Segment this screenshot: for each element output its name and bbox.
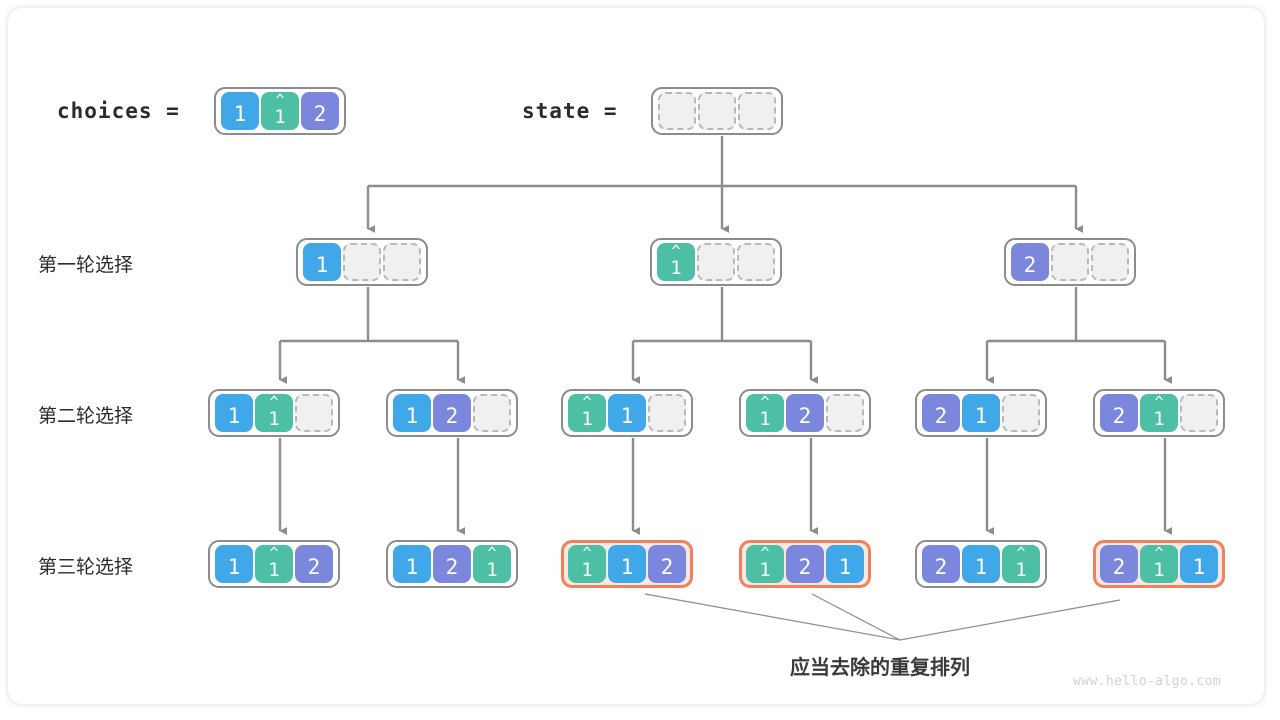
value-cell: ^1 [657,243,695,281]
empty-cell [738,92,776,130]
value-cell: 1 [215,545,253,583]
tree-node: 1 [296,238,428,286]
cell-value: 2 [1024,255,1037,276]
value-cell: 1 [215,394,253,432]
tree-node-duplicate: 2^11 [1093,540,1225,588]
choices-array: 1^12 [214,87,346,135]
empty-cell [648,394,686,432]
value-cell: 1 [962,394,1000,432]
value-cell: 1 [1180,545,1218,583]
value-cell: 1 [962,545,1000,583]
cell-value: 1 [1193,557,1206,578]
cell-value: 1 [975,406,988,427]
empty-cell [1002,394,1040,432]
tree-node: 2 [1004,238,1136,286]
cell-value: 1 [486,561,497,580]
row-label-round-1: 第一轮选择 [38,250,133,277]
cell-value: 1 [1153,410,1164,429]
cell-value: 1 [839,557,852,578]
value-cell: ^1 [1002,545,1040,583]
value-cell: 1 [608,545,646,583]
value-cell: 2 [648,545,686,583]
value-cell: 2 [1011,243,1049,281]
row-label-round-3: 第三轮选择 [38,552,133,579]
value-cell: 1 [826,545,864,583]
cell-value: 1 [581,561,592,580]
cell-value: 1 [234,104,247,125]
cell-value: 2 [314,104,327,125]
cell-value: 2 [799,557,812,578]
value-cell: ^1 [261,92,299,130]
cell-value: 2 [661,557,674,578]
value-cell: 1 [393,545,431,583]
tree-node-duplicate: ^112 [561,540,693,588]
value-cell: 1 [393,394,431,432]
figure-canvas: choices = 1^12 state = 第一轮选择 第二轮选择 第三轮选择… [0,0,1280,720]
choices-label: choices = [57,99,180,123]
cell-value: 1 [274,108,285,127]
tree-node: 2^1 [1093,389,1225,437]
cell-value: 1 [1153,561,1164,580]
value-cell: ^1 [255,394,293,432]
value-cell: 2 [1100,545,1138,583]
cell-value: 1 [759,561,770,580]
value-cell: ^1 [746,545,784,583]
empty-cell [473,394,511,432]
empty-cell [1180,394,1218,432]
empty-cell [343,243,381,281]
tree-node: 21^1 [915,540,1047,588]
cell-value: 1 [621,557,634,578]
value-cell: 2 [786,394,824,432]
cell-value: 1 [975,557,988,578]
empty-cell [697,243,735,281]
tree-node: 21 [915,389,1047,437]
empty-cell [383,243,421,281]
tree-node: 12 [386,389,518,437]
value-cell: ^1 [473,545,511,583]
value-cell: 2 [922,394,960,432]
cell-value: 2 [935,406,948,427]
cell-value: 1 [268,410,279,429]
state-label: state = [522,99,618,123]
cell-value: 1 [581,410,592,429]
duplicate-caption: 应当去除的重复排列 [790,651,970,680]
value-cell: 2 [433,394,471,432]
empty-cell [826,394,864,432]
cell-value: 2 [446,557,459,578]
value-cell: ^1 [1140,394,1178,432]
value-cell: ^1 [568,394,606,432]
cell-value: 1 [268,561,279,580]
cell-value: 1 [621,406,634,427]
empty-cell [737,243,775,281]
cell-value: 1 [228,557,241,578]
cell-value: 1 [406,406,419,427]
tree-node: ^12 [739,389,871,437]
row-label-round-2: 第二轮选择 [38,401,133,428]
tree-node-duplicate: ^121 [739,540,871,588]
value-cell: ^1 [568,545,606,583]
cell-value: 2 [799,406,812,427]
value-cell: 2 [1100,394,1138,432]
empty-cell [658,92,696,130]
empty-cell [1091,243,1129,281]
value-cell: 1 [608,394,646,432]
value-cell: ^1 [255,545,293,583]
cell-value: 1 [670,259,681,278]
cell-value: 1 [406,557,419,578]
cell-value: 2 [1113,557,1126,578]
value-cell: 2 [922,545,960,583]
figure-frame [8,8,1264,704]
value-cell: 1 [221,92,259,130]
cell-value: 2 [446,406,459,427]
value-cell: 1 [303,243,341,281]
value-cell: ^1 [1140,545,1178,583]
value-cell: ^1 [746,394,784,432]
state-array [651,87,783,135]
value-cell: 2 [433,545,471,583]
tree-node: 1^12 [208,540,340,588]
empty-cell [698,92,736,130]
tree-node: 12^1 [386,540,518,588]
cell-value: 1 [316,255,329,276]
empty-cell [295,394,333,432]
cell-value: 1 [759,410,770,429]
tree-node: ^1 [650,238,782,286]
cell-value: 2 [1113,406,1126,427]
cell-value: 2 [935,557,948,578]
tree-node: 1^1 [208,389,340,437]
watermark: www.hello-algo.com [1073,674,1221,689]
tree-node: ^11 [561,389,693,437]
value-cell: 2 [786,545,824,583]
empty-cell [1051,243,1089,281]
cell-value: 1 [228,406,241,427]
value-cell: 2 [301,92,339,130]
cell-value: 2 [308,557,321,578]
value-cell: 2 [295,545,333,583]
cell-value: 1 [1015,561,1026,580]
